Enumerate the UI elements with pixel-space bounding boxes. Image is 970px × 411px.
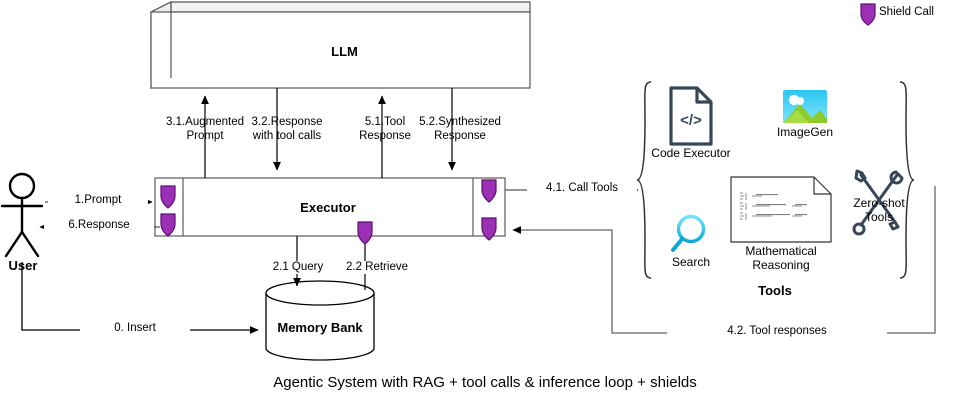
tool-label-imagegen: ImageGen — [760, 125, 850, 139]
edge-label-insert: 0. Insert — [80, 322, 190, 335]
edge-label-synthesized-line1: 5.2.Synthesized — [395, 116, 525, 129]
diagram-canvas: </> — [0, 0, 970, 411]
tool-label-math-reasoning-line1: Mathematical — [726, 244, 836, 258]
edge-insert — [22, 262, 258, 330]
tool-label-math-reasoning-line2: Reasoning — [726, 258, 836, 272]
magnifier-icon — [673, 217, 704, 251]
image-icon — [783, 90, 827, 123]
edge-label-synthesized-line2: Response — [395, 130, 525, 143]
legend-shield-label: Shield Call — [879, 6, 934, 18]
diagram-caption: Agentic System with RAG + tool calls & i… — [0, 374, 970, 391]
tool-label-zero-shot-line2: Tools — [838, 210, 920, 224]
memory-bank-label: Memory Bank — [266, 320, 374, 335]
executor-label: Executor — [183, 200, 473, 215]
svg-text:</>: </> — [680, 112, 702, 129]
edge-label-tool-responses: 4.2. Tool responses — [667, 325, 887, 338]
edge-label-prompt: 1.Prompt — [48, 194, 148, 207]
code-document-icon: </> — [671, 88, 711, 144]
tool-label-search: Search — [656, 255, 726, 269]
edge-label-response: 6.Response — [44, 219, 154, 232]
user-actor — [2, 174, 42, 256]
tools-group-label: Tools — [720, 283, 830, 298]
tool-label-zero-shot-line1: Zero-shot — [838, 196, 920, 210]
tools-brace-left — [637, 82, 651, 278]
llm-label: LLM — [155, 44, 534, 59]
tool-label-code-executor: Code Executor — [641, 146, 741, 160]
legend-shield-icon — [861, 4, 875, 25]
formula-document-icon — [731, 177, 831, 242]
edge-label-call-tools: 4.1. Call Tools — [527, 182, 637, 195]
shield-icon-bottom-center — [358, 222, 372, 244]
shield-icon-right-bottom — [482, 218, 496, 240]
edge-label-query: 2.1 Query — [254, 261, 342, 274]
edge-label-retrieve: 2.2 Retrieve — [330, 261, 424, 274]
user-label: User — [0, 258, 46, 273]
